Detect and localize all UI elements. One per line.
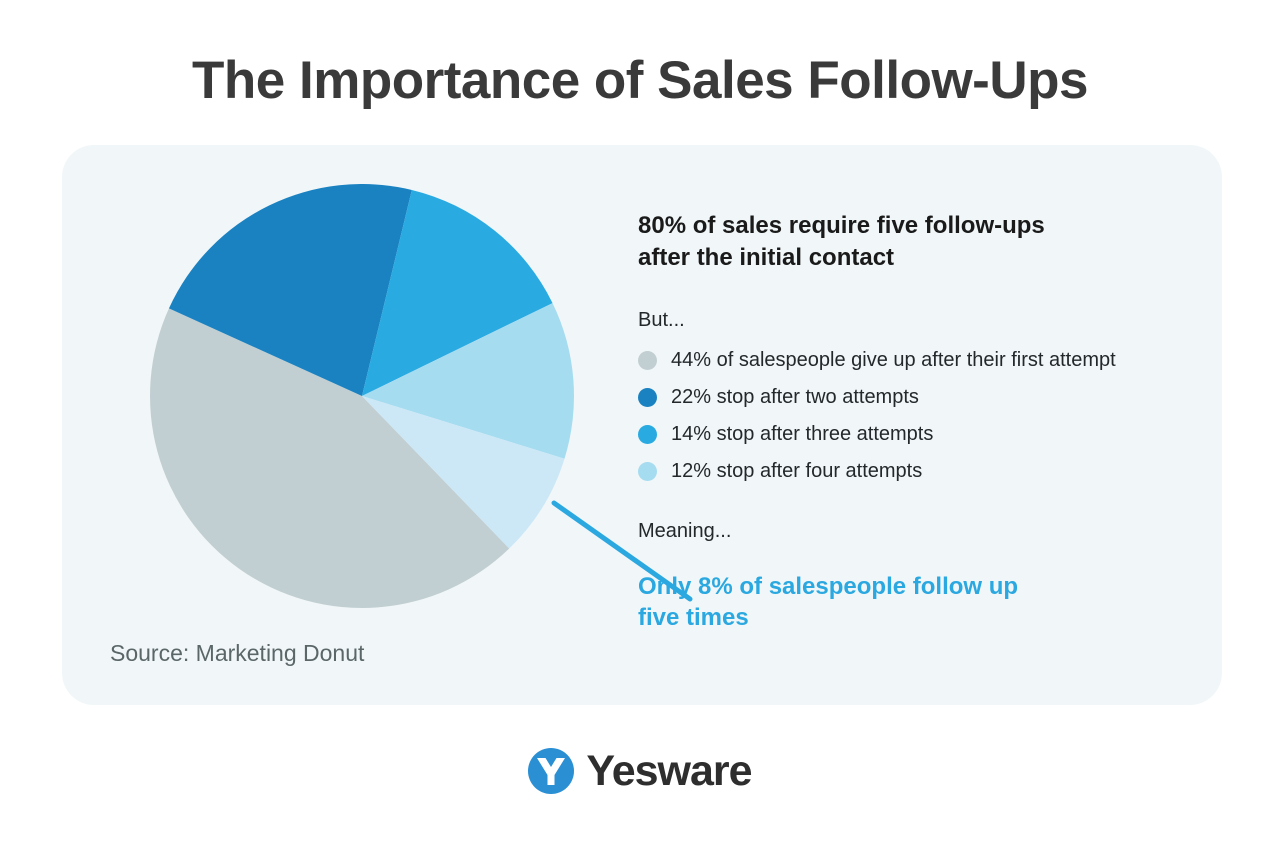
page-title: The Importance of Sales Follow-Ups bbox=[0, 52, 1280, 110]
legend-item: 12% stop after four attempts bbox=[638, 453, 1183, 490]
legend-color-dot bbox=[638, 462, 657, 481]
pie-slice-group bbox=[150, 184, 574, 608]
pie-chart-svg bbox=[150, 184, 574, 608]
pie-chart bbox=[150, 184, 574, 608]
legend-item-label: 44% of salespeople give up after their f… bbox=[671, 349, 1116, 372]
headline: 80% of sales require five follow-ups aft… bbox=[638, 210, 1183, 275]
lead-in-label: But... bbox=[638, 309, 1183, 332]
infographic-page: The Importance of Sales Follow-Ups Sourc… bbox=[0, 0, 1280, 846]
yesware-wordmark: Yesware bbox=[586, 750, 751, 793]
info-column: 80% of sales require five follow-ups aft… bbox=[638, 210, 1183, 633]
legend-item: 22% stop after two attempts bbox=[638, 379, 1183, 416]
footer-logo: Yesware bbox=[0, 748, 1280, 794]
yesware-logo-icon bbox=[528, 748, 574, 794]
legend-item-label: 22% stop after two attempts bbox=[671, 386, 919, 409]
infographic-card: Source: Marketing Donut 80% of sales req… bbox=[62, 145, 1222, 705]
legend-item-label: 12% stop after four attempts bbox=[671, 460, 922, 483]
headline-line-2: after the initial contact bbox=[638, 242, 1183, 274]
meaning-label: Meaning... bbox=[638, 520, 1183, 543]
legend-color-dot bbox=[638, 388, 657, 407]
legend-color-dot bbox=[638, 425, 657, 444]
legend-color-dot bbox=[638, 351, 657, 370]
legend-list: 44% of salespeople give up after their f… bbox=[638, 342, 1183, 490]
callout-line-1: Only 8% of salespeople follow up bbox=[638, 571, 1183, 602]
callout-text: Only 8% of salespeople follow up five ti… bbox=[638, 571, 1183, 633]
callout-line-2: five times bbox=[638, 602, 1183, 633]
headline-line-1: 80% of sales require five follow-ups bbox=[638, 210, 1183, 242]
legend-item-label: 14% stop after three attempts bbox=[671, 423, 933, 446]
legend-item: 44% of salespeople give up after their f… bbox=[638, 342, 1183, 379]
source-attribution: Source: Marketing Donut bbox=[110, 640, 364, 667]
legend-item: 14% stop after three attempts bbox=[638, 416, 1183, 453]
